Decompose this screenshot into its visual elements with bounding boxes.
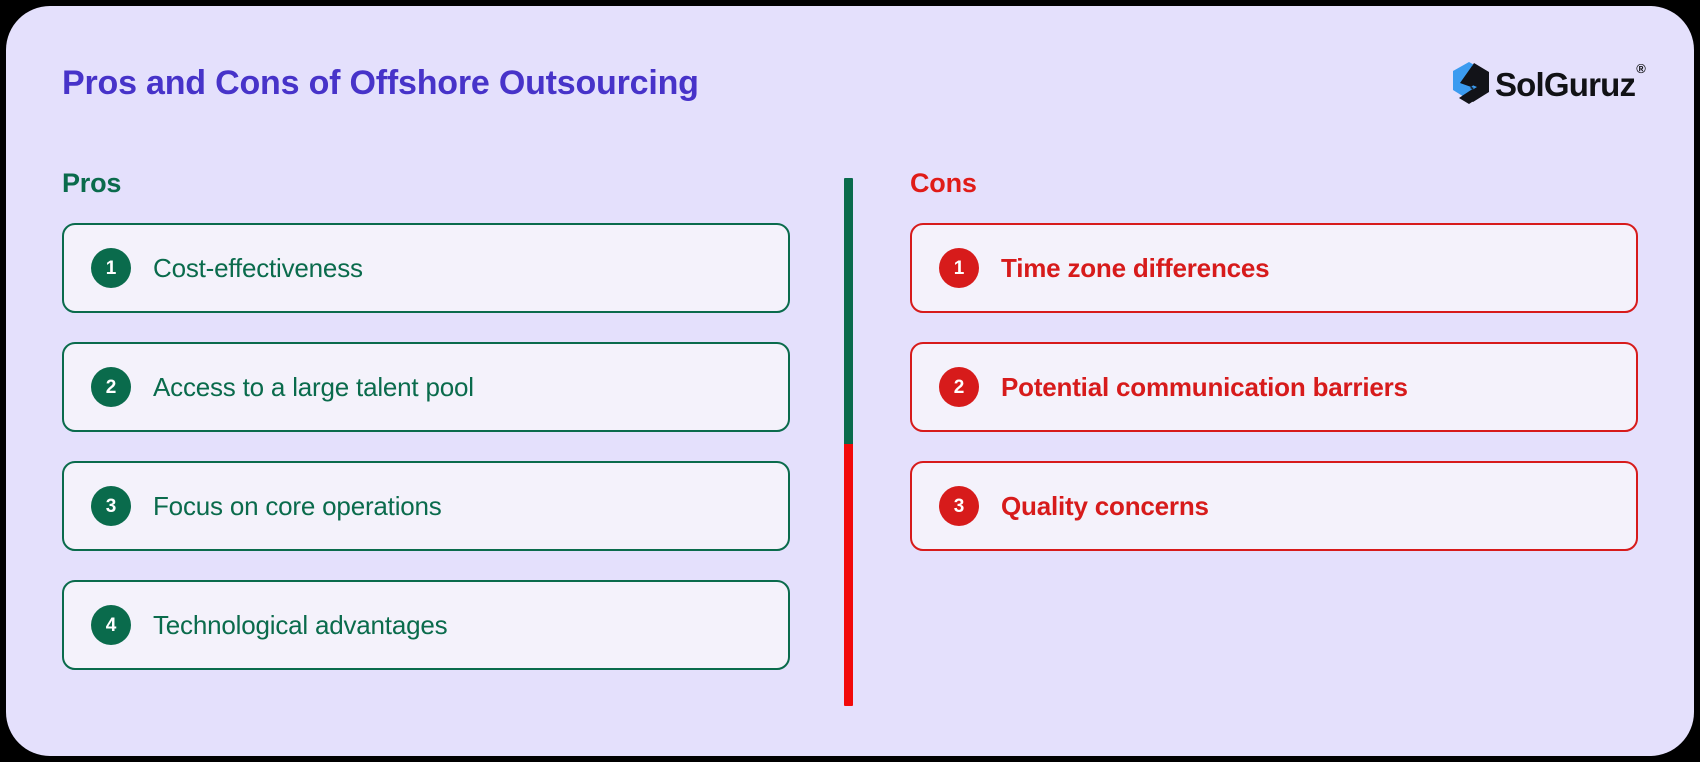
cons-item-3-badge: 3 — [939, 486, 979, 526]
registered-mark: ® — [1636, 61, 1645, 76]
cons-column: Cons 1 Time zone differences 2 Potential… — [910, 156, 1638, 580]
brand-logo: SolGuruz® — [1450, 61, 1644, 107]
pros-item-3[interactable]: 3 Focus on core operations — [62, 461, 790, 551]
pros-item-2-label: Access to a large talent pool — [153, 372, 474, 403]
pros-item-1-label: Cost-effectiveness — [153, 253, 363, 284]
pros-item-1[interactable]: 1 Cost-effectiveness — [62, 223, 790, 313]
pros-heading: Pros — [62, 168, 790, 199]
pros-column: Pros 1 Cost-effectiveness 2 Access to a … — [62, 156, 790, 699]
pros-item-1-badge: 1 — [91, 248, 131, 288]
logo-wordmark: SolGuruz® — [1495, 68, 1644, 101]
cons-item-1[interactable]: 1 Time zone differences — [910, 223, 1638, 313]
pros-item-3-badge: 3 — [91, 486, 131, 526]
page-title: Pros and Cons of Offshore Outsourcing — [62, 64, 699, 103]
pros-item-2-badge: 2 — [91, 367, 131, 407]
hexagon-bolt-icon — [1450, 61, 1490, 107]
pros-item-3-label: Focus on core operations — [153, 491, 442, 522]
cons-item-3-label: Quality concerns — [1001, 491, 1209, 522]
pros-item-4[interactable]: 4 Technological advantages — [62, 580, 790, 670]
cons-item-2-label: Potential communication barriers — [1001, 372, 1408, 403]
cons-heading: Cons — [910, 168, 1638, 199]
pros-item-4-badge: 4 — [91, 605, 131, 645]
columns-container: Pros 1 Cost-effectiveness 2 Access to a … — [6, 156, 1694, 756]
cons-item-1-badge: 1 — [939, 248, 979, 288]
cons-item-3[interactable]: 3 Quality concerns — [910, 461, 1638, 551]
pros-item-2[interactable]: 2 Access to a large talent pool — [62, 342, 790, 432]
pros-item-4-label: Technological advantages — [153, 610, 447, 641]
header: Pros and Cons of Offshore Outsourcing So… — [6, 6, 1694, 156]
cons-item-2[interactable]: 2 Potential communication barriers — [910, 342, 1638, 432]
cons-item-1-label: Time zone differences — [1001, 253, 1269, 284]
infographic-panel: Pros and Cons of Offshore Outsourcing So… — [6, 6, 1694, 756]
cons-item-2-badge: 2 — [939, 367, 979, 407]
logo-wordmark-text: SolGuruz — [1495, 66, 1635, 103]
